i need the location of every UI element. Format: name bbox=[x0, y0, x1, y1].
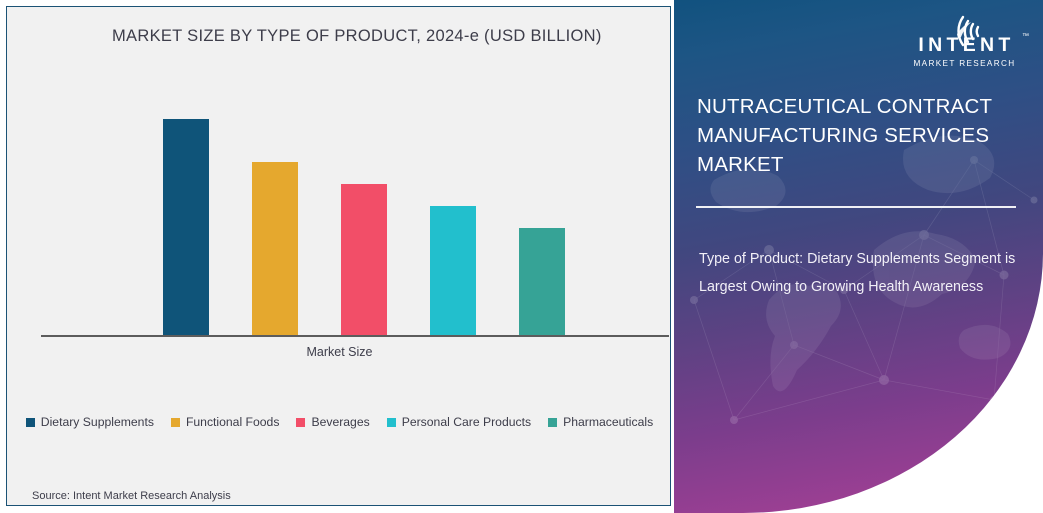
x-axis-line bbox=[41, 335, 669, 337]
legend-swatch-icon bbox=[387, 418, 396, 427]
legend-swatch-icon bbox=[26, 418, 35, 427]
legend-label: Functional Foods bbox=[186, 415, 280, 429]
trademark-symbol: ™ bbox=[1022, 33, 1029, 40]
legend-item-pharmaceuticals[interactable]: Pharmaceuticals bbox=[548, 415, 653, 429]
panel-divider bbox=[696, 206, 1016, 208]
bar-functional-foods bbox=[252, 162, 298, 337]
title-panel: INTENT ™ MARKET RESEARCH NUTRACEUTICAL C… bbox=[674, 0, 1043, 513]
legend-swatch-icon bbox=[548, 418, 557, 427]
bar-personal-care-products bbox=[430, 206, 476, 337]
legend-label: Pharmaceuticals bbox=[563, 415, 653, 429]
logo-wordmark-label: INTENT bbox=[918, 34, 1014, 56]
chart-legend: Dietary SupplementsFunctional FoodsBever… bbox=[7, 415, 672, 429]
chart-title: MARKET SIZE BY TYPE OF PRODUCT, 2024-e (… bbox=[112, 27, 602, 46]
chart-card: MARKET SIZE BY TYPE OF PRODUCT, 2024-e (… bbox=[6, 6, 671, 506]
logo-wordmark-text: INTENT ™ bbox=[902, 36, 1027, 56]
bar-pharmaceuticals bbox=[519, 228, 565, 337]
source-note: Source: Intent Market Research Analysis bbox=[32, 490, 231, 502]
panel-heading: NUTRACEUTICAL CONTRACT MANUFACTURING SER… bbox=[697, 92, 1027, 179]
bar-dietary-supplements bbox=[163, 119, 209, 337]
legend-item-personal-care-products[interactable]: Personal Care Products bbox=[387, 415, 531, 429]
legend-swatch-icon bbox=[171, 418, 180, 427]
legend-item-functional-foods[interactable]: Functional Foods bbox=[171, 415, 280, 429]
legend-swatch-icon bbox=[296, 418, 305, 427]
brand-logo: INTENT ™ MARKET RESEARCH bbox=[902, 11, 1027, 68]
legend-label: Dietary Supplements bbox=[41, 415, 154, 429]
legend-label: Beverages bbox=[311, 415, 369, 429]
legend-label: Personal Care Products bbox=[402, 415, 531, 429]
bar-beverages bbox=[341, 184, 387, 337]
panel-subtext: Type of Product: Dietary Supplements Seg… bbox=[699, 246, 1021, 302]
legend-item-dietary-supplements[interactable]: Dietary Supplements bbox=[26, 415, 154, 429]
logo-subtext: MARKET RESEARCH bbox=[902, 59, 1027, 68]
x-axis-label: Market Size bbox=[7, 345, 672, 359]
bar-chart-plot-area bbox=[41, 97, 669, 337]
legend-item-beverages[interactable]: Beverages bbox=[296, 415, 369, 429]
